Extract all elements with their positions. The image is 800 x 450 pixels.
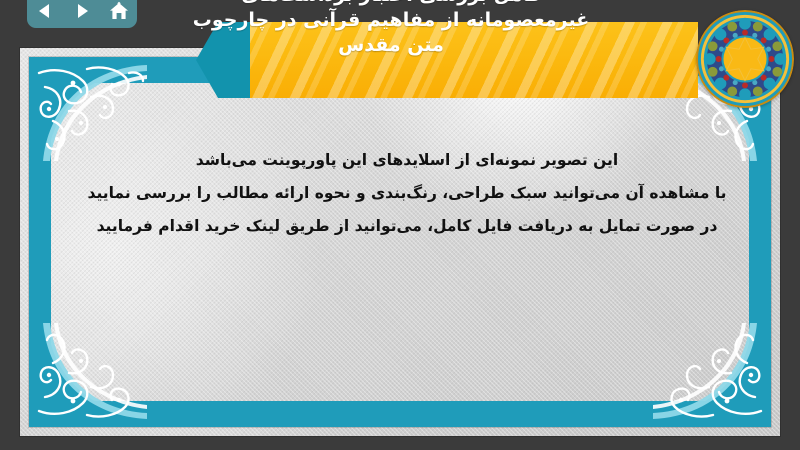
slide-navigation-toolbar <box>27 0 137 28</box>
triangle-left-icon <box>35 1 55 21</box>
home-button[interactable] <box>106 0 132 23</box>
islamic-mandala-medallion <box>696 10 794 108</box>
title-line-1: کامل بررسی اعتبار برداشت‌های <box>54 0 728 8</box>
body-line-2: با مشاهده آن می‌توانید سبک طراحی، رنگ‌بن… <box>80 177 734 210</box>
slide-viewer-stage: این تصویر نمونه‌ای از اسلایدهای این پاور… <box>0 0 800 450</box>
bokeh-circle <box>108 276 180 348</box>
mandala-icon <box>696 10 794 108</box>
home-icon <box>108 1 130 21</box>
body-line-1: این تصویر نمونه‌ای از اسلایدهای این پاور… <box>80 144 734 177</box>
previous-slide-button[interactable] <box>32 0 58 23</box>
title-line-2: غیرمعصومانه از مفاهیم قرآنی در چارچوب <box>54 8 728 33</box>
bokeh-circle <box>252 348 330 426</box>
triangle-right-icon <box>72 1 92 21</box>
bokeh-circle <box>420 263 484 327</box>
slide-canvas: این تصویر نمونه‌ای از اسلایدهای این پاور… <box>20 48 780 436</box>
bokeh-circle <box>595 298 665 368</box>
title-line-3: متن مقدس <box>54 33 728 58</box>
slide-body-text: این تصویر نمونه‌ای از اسلایدهای این پاور… <box>80 144 734 243</box>
next-slide-button[interactable] <box>69 0 95 23</box>
slide-title: کامل بررسی اعتبار برداشت‌های غیرمعصومانه… <box>54 0 728 58</box>
body-line-3: در صورت تمایل به دریافت فایل کامل، می‌تو… <box>80 210 734 243</box>
